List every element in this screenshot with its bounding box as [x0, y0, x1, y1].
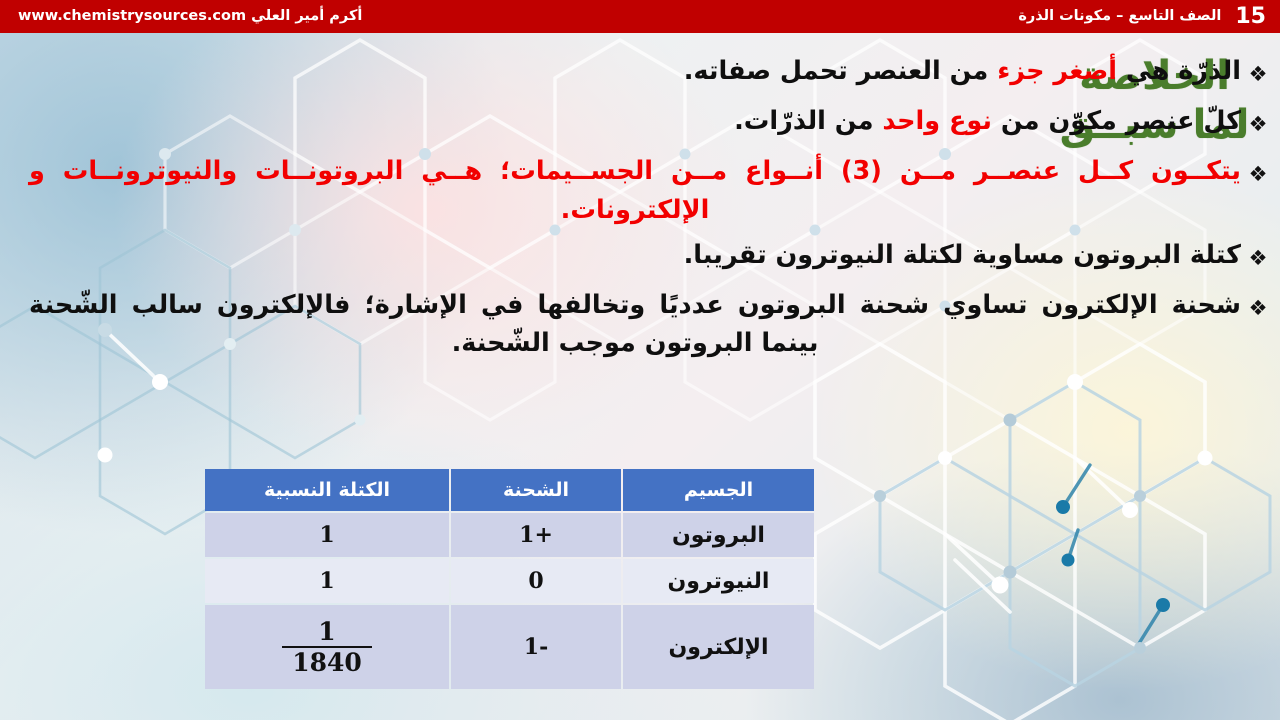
fraction-numerator: 1 [282, 618, 372, 646]
bullet-5-text: شحنة الإلكترون تساوي شحنة البروتون عدديً… [17, 286, 1241, 364]
particles-table: الجسيم الشحنة الكتلة النسبية البروتون +1… [203, 467, 816, 691]
bullet-2-seg-2: من الذرّات. [734, 106, 882, 136]
table-row: النيوترون 0 1 [205, 559, 814, 603]
bullet-1-text: الذرّة هي أصغر جزء من العنصر تحمل صفاته. [17, 52, 1241, 91]
table-header-row: الجسيم الشحنة الكتلة النسبية [205, 469, 814, 511]
bullet-diamond-icon: ❖ [1241, 286, 1275, 330]
list-item: ❖ كلّ عنصر مكوّن من نوع واحد من الذرّات. [17, 102, 1275, 146]
fraction-one-over-1840: 1 1840 [282, 618, 372, 676]
table-header-relative-mass: الكتلة النسبية [205, 469, 449, 511]
bullet-3-text: يتكــون كــل عنصــر مــن (3) أنــواع مــ… [17, 152, 1241, 230]
lesson-title: الصف التاسع – مكونات الذرة [1018, 9, 1221, 24]
list-item: ❖ شحنة الإلكترون تساوي شحنة البروتون عدد… [17, 286, 1275, 364]
list-item: ❖ الذرّة هي أصغر جزء من العنصر تحمل صفات… [17, 52, 1275, 96]
header-right-group: 15 الصف التاسع – مكونات الذرة [1018, 6, 1266, 28]
bullet-1-seg-1: أصغر جزء [997, 56, 1117, 86]
list-item: ❖ يتكــون كــل عنصــر مــن (3) أنــواع م… [17, 152, 1275, 230]
bullet-2-seg-0: كلّ عنصر مكوّن من [992, 106, 1241, 136]
slide-canvas: 15 الصف التاسع – مكونات الذرة أكرم أمير … [0, 0, 1280, 720]
bullet-1-seg-2: من العنصر تحمل صفاته. [684, 56, 997, 86]
cell-particle-proton: البروتون [623, 513, 814, 557]
cell-charge-neutron: 0 [451, 559, 621, 603]
cell-mass-electron: 1 1840 [205, 605, 449, 689]
table-header-charge: الشحنة [451, 469, 621, 511]
cell-mass-proton: 1 [205, 513, 449, 557]
table-row: البروتون +1 1 [205, 513, 814, 557]
page-number: 15 [1235, 6, 1266, 28]
fraction-denominator: 1840 [282, 646, 372, 676]
cell-particle-neutron: النيوترون [623, 559, 814, 603]
bullet-diamond-icon: ❖ [1241, 152, 1275, 196]
header-bar: 15 الصف التاسع – مكونات الذرة أكرم أمير … [0, 0, 1280, 33]
bullet-diamond-icon: ❖ [1241, 52, 1275, 96]
summary-bullet-list: ❖ الذرّة هي أصغر جزء من العنصر تحمل صفات… [17, 52, 1275, 369]
list-item: ❖ كتلة البروتون مساوية لكتلة النيوترون ت… [17, 236, 1275, 280]
bullet-diamond-icon: ❖ [1241, 236, 1275, 280]
site-credit: أكرم أمير العلي www.chemistrysources.com [18, 9, 362, 24]
cell-charge-proton: +1 [451, 513, 621, 557]
particles-table-wrapper: الجسيم الشحنة الكتلة النسبية البروتون +1… [207, 467, 816, 691]
bullet-diamond-icon: ❖ [1241, 102, 1275, 146]
cell-particle-electron: الإلكترون [623, 605, 814, 689]
table-header-particle: الجسيم [623, 469, 814, 511]
bullet-2-text: كلّ عنصر مكوّن من نوع واحد من الذرّات. [17, 102, 1241, 141]
bullet-1-seg-0: الذرّة هي [1117, 56, 1241, 86]
bullet-4-text: كتلة البروتون مساوية لكتلة النيوترون تقر… [17, 236, 1241, 275]
bullet-2-seg-1: نوع واحد [882, 106, 992, 136]
table-row: الإلكترون -1 1 1840 [205, 605, 814, 689]
cell-mass-neutron: 1 [205, 559, 449, 603]
cell-charge-electron: -1 [451, 605, 621, 689]
